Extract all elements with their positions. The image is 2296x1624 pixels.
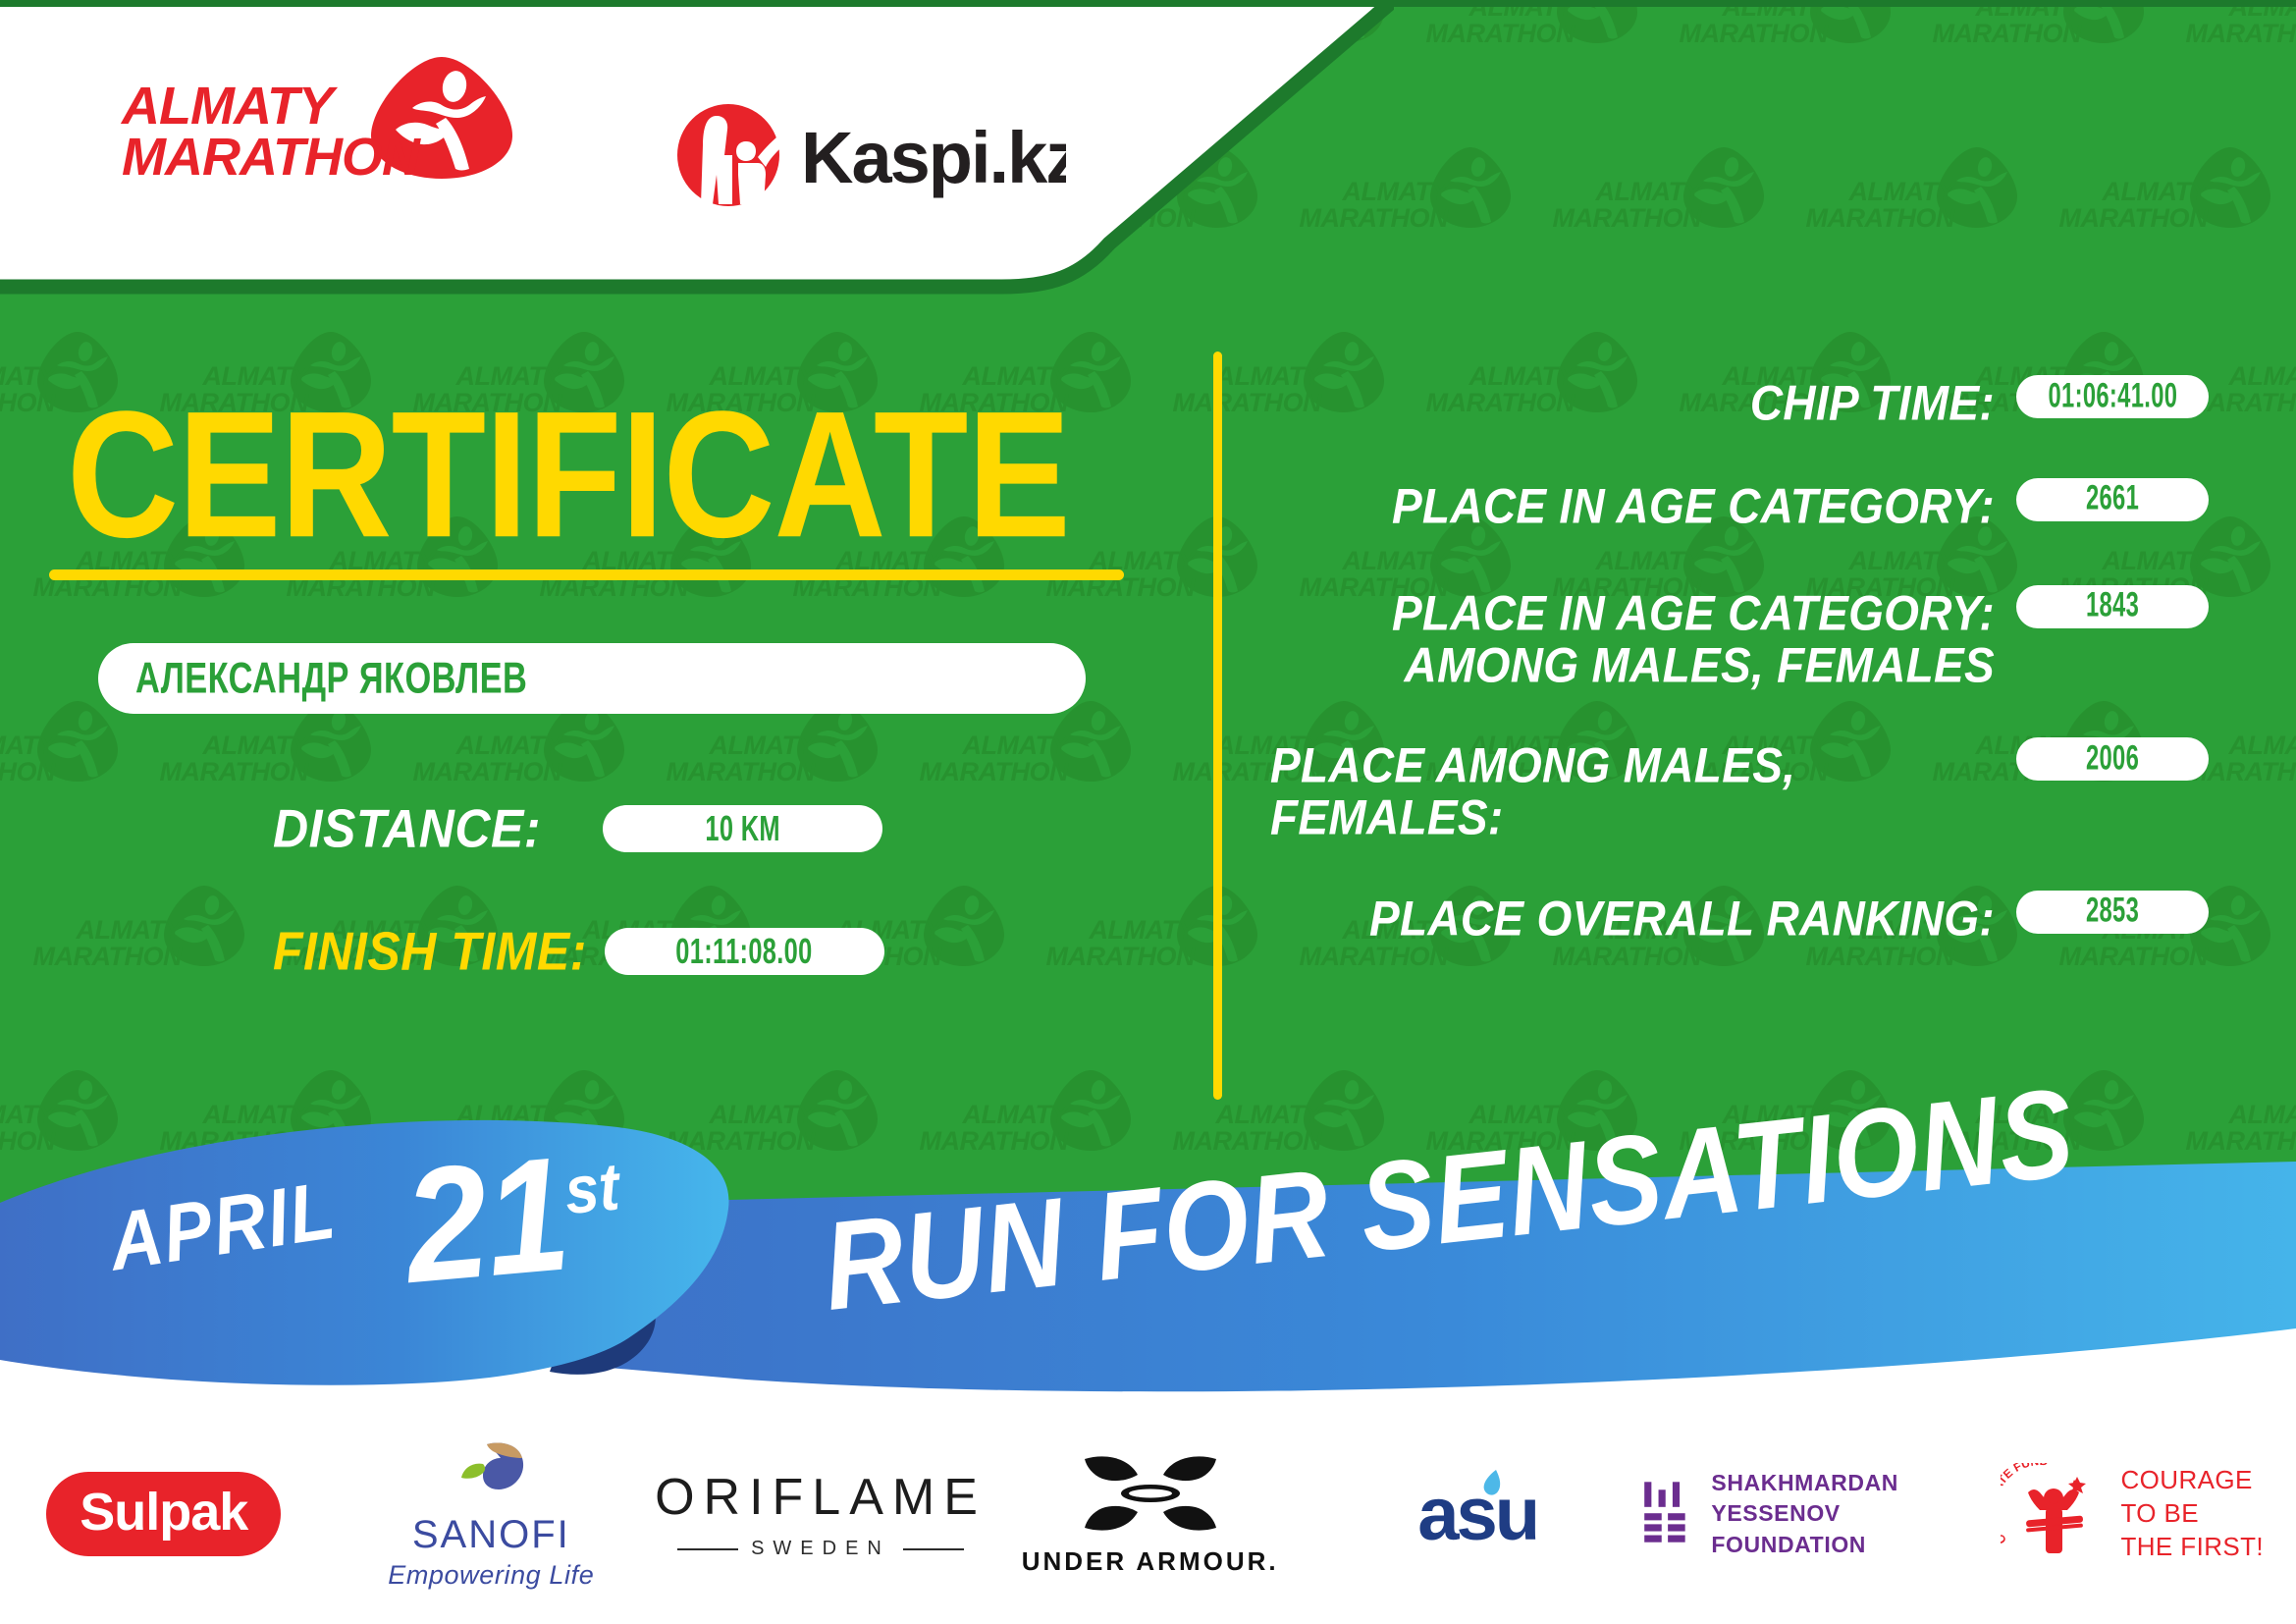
oriflame-sub-text: SWEDEN xyxy=(751,1538,890,1560)
watermark-line1: ALMATY xyxy=(135,732,308,759)
kaspi-logo-text: Kaspi.kz xyxy=(801,117,1066,198)
sponsor-bar: Sulpak SANOFI Empowering Life ORIFLAME S… xyxy=(0,1404,2296,1624)
sponsor-sanofi: SANOFI Empowering Life xyxy=(328,1426,656,1602)
under-armour-logo-text: UNDER ARMOUR. xyxy=(1022,1546,1279,1577)
finish-time-label: FINISH TIME: xyxy=(273,920,587,983)
watermark-line2: MARATHON xyxy=(135,759,308,785)
watermark-runner-icon xyxy=(922,884,1006,982)
title-underline xyxy=(49,569,1124,580)
sponsor-sulpak: Sulpak xyxy=(0,1426,328,1602)
sponsor-oriflame: ORIFLAME SWEDEN xyxy=(655,1426,987,1602)
sponsor-courage: CORPORATE FUND COURAGE TO BE THE FIRST! xyxy=(1968,1426,2296,1602)
watermark-text: ALMATY MARATHON xyxy=(895,732,1068,785)
watermark-tile: ALMATY MARATHON xyxy=(2035,145,2280,293)
watermark-tile: ALMATY MARATHON xyxy=(1402,0,1647,108)
watermark-text: ALMATY MARATHON xyxy=(2162,0,2296,47)
watermark-line2: MARATHON xyxy=(2288,944,2296,970)
watermark-tile: ALMATY MARATHON xyxy=(2288,884,2296,1031)
chip-time-value-pill: 01:06:41.00 xyxy=(2016,375,2209,418)
watermark-line1: ALMATY xyxy=(1022,917,1195,944)
watermark-line1: ALMATY xyxy=(9,917,182,944)
watermark-text: ALMATY MARATHON xyxy=(2288,917,2296,970)
place-age-category-value-pill: 2661 xyxy=(2016,478,2209,521)
watermark-tile: ALMATY MARATHON xyxy=(2288,145,2296,293)
watermark-tile: ALMATY MARATHON xyxy=(0,699,128,846)
sulpak-logo-text: Sulpak xyxy=(80,1483,247,1542)
oriflame-logo: ORIFLAME SWEDEN xyxy=(655,1468,987,1560)
place-among-mf-label: PLACE AMONG MALES, FEMALES: xyxy=(1266,735,2016,843)
sanofi-logo-text: SANOFI xyxy=(412,1513,570,1557)
sulpak-logo: Sulpak xyxy=(46,1472,281,1556)
place-age-category-label: PLACE IN AGE CATEGORY: xyxy=(1266,476,2016,532)
almaty-logo-line2: MARATHON xyxy=(122,128,421,184)
watermark-runner-icon xyxy=(1808,0,1893,59)
under-armour-mark-icon xyxy=(1077,1451,1224,1538)
watermark-text: ALMATY MARATHON xyxy=(1402,0,1575,47)
watermark-runner-icon xyxy=(542,699,626,797)
watermark-line2: MARATHON xyxy=(389,759,561,785)
watermark-line1: ALMATY xyxy=(895,732,1068,759)
place-age-category-mf-label-line2: AMONG MALES, FEMALES xyxy=(1266,638,1995,690)
watermark-line1: ALMATY xyxy=(2288,548,2296,574)
yessenov-line1: SHAKHMARDAN YESSENOV xyxy=(1711,1468,1968,1529)
watermark-line2: MARATHON xyxy=(1528,205,1701,232)
sanofi-logo: SANOFI Empowering Life xyxy=(388,1438,594,1591)
courage-mark-icon: CORPORATE FUND xyxy=(2001,1463,2107,1565)
place-among-mf-value: 2006 xyxy=(2086,739,2139,779)
place-age-category-value: 2661 xyxy=(2086,480,2139,519)
sponsor-asu: asu xyxy=(1313,1426,1641,1602)
sponsor-under-armour: UNDER ARMOUR. xyxy=(987,1426,1314,1602)
ribbon-day-number: 21 xyxy=(398,1122,574,1317)
watermark-runner-icon xyxy=(2061,0,2146,59)
watermark-runner-icon xyxy=(289,699,373,797)
watermark-runner-icon xyxy=(1555,0,1639,59)
watermark-line1: ALMATY xyxy=(0,732,55,759)
distance-label: DISTANCE: xyxy=(273,797,541,860)
chip-time-value: 01:06:41.00 xyxy=(2048,377,2177,416)
watermark-line1: ALMATY xyxy=(0,363,55,390)
kaspi-people-icon xyxy=(677,104,784,206)
watermark-text: ALMATY MARATHON xyxy=(0,363,55,416)
almaty-logo-line1: ALMATY xyxy=(120,77,339,135)
watermark-runner-icon xyxy=(1428,145,1513,244)
watermark-text: ALMATY MARATHON xyxy=(389,732,561,785)
place-overall-value-pill: 2853 xyxy=(2016,891,2209,934)
place-overall-label: PLACE OVERALL RANKING: xyxy=(1266,889,2016,945)
watermark-text: ALMATY MARATHON xyxy=(0,732,55,785)
chip-time-label: CHIP TIME: xyxy=(1266,373,2016,429)
place-overall-value: 2853 xyxy=(2086,893,2139,932)
watermark-tile: ALMATY MARATHON xyxy=(1782,145,2027,293)
place-age-category-mf-value-pill: 1843 xyxy=(2016,585,2209,628)
watermark-tile: ALMATY MARATHON xyxy=(1022,884,1267,1031)
watermark-line2: MARATHON xyxy=(1782,205,1954,232)
watermark-text: ALMATY MARATHON xyxy=(1908,0,2081,47)
watermark-tile: ALMATY MARATHON xyxy=(1528,145,1774,293)
asu-logo-text: asu xyxy=(1417,1473,1537,1556)
watermark-tile: ALMATY MARATHON xyxy=(2162,0,2296,108)
watermark-line2: MARATHON xyxy=(2162,21,2296,47)
yessenov-line2: FOUNDATION xyxy=(1711,1530,1968,1560)
watermark-runner-icon xyxy=(1935,145,2019,244)
watermark-runner-icon xyxy=(795,699,880,797)
watermark-line1: ALMATY xyxy=(1782,179,1954,205)
watermark-tile: ALMATY MARATHON xyxy=(895,699,1141,846)
courage-line1: COURAGE xyxy=(2120,1464,2264,1497)
watermark-line1: ALMATY xyxy=(2035,179,2208,205)
watermark-line1: ALMATY xyxy=(2288,917,2296,944)
result-row-place-among-mf: PLACE AMONG MALES, FEMALES: 2006 xyxy=(1266,735,2209,836)
watermark-line2: MARATHON xyxy=(642,759,815,785)
distance-row: DISTANCE: 10 KM xyxy=(273,800,882,857)
courage-line3: THE FIRST! xyxy=(2120,1531,2264,1564)
result-row-place-age-category: PLACE IN AGE CATEGORY: 2661 xyxy=(1266,476,2209,528)
watermark-line2: MARATHON xyxy=(2288,205,2296,232)
oriflame-sub: SWEDEN xyxy=(677,1538,964,1560)
participant-name-value: АЛЕКСАНДР ЯКОВЛЕВ xyxy=(135,654,527,703)
kaspi-logo: Kaspi.kz xyxy=(673,98,1066,216)
watermark-text: ALMATY MARATHON xyxy=(2035,179,2208,232)
sponsor-yessenov: SHAKHMARDAN YESSENOV FOUNDATION xyxy=(1641,1426,1969,1602)
watermark-runner-icon xyxy=(162,884,246,982)
vertical-divider xyxy=(1213,352,1222,1100)
watermark-text: ALMATY MARATHON xyxy=(642,732,815,785)
participant-name-field: АЛЕКСАНДР ЯКОВЛЕВ xyxy=(98,643,1086,714)
watermark-line2: MARATHON xyxy=(9,944,182,970)
watermark-text: ALMATY MARATHON xyxy=(1528,179,1701,232)
asu-logo: asu xyxy=(1417,1472,1537,1557)
sanofi-tagline: Empowering Life xyxy=(388,1560,594,1591)
watermark-runner-icon xyxy=(35,699,120,797)
watermark-line2: MARATHON xyxy=(2035,205,2208,232)
ribbon-day: 21st xyxy=(398,1115,629,1321)
yessenov-logo-text: SHAKHMARDAN YESSENOV FOUNDATION xyxy=(1711,1468,1968,1559)
watermark-text: ALMATY MARATHON xyxy=(1782,179,1954,232)
watermark-text: ALMATY MARATHON xyxy=(9,917,182,970)
place-age-category-mf-label-line1: PLACE IN AGE CATEGORY: xyxy=(1266,587,1995,639)
distance-value-pill: 10 KM xyxy=(603,805,882,852)
watermark-tile: ALMATY MARATHON xyxy=(2288,514,2296,662)
results-list: CHIP TIME: 01:06:41.00 PLACE IN AGE CATE… xyxy=(1266,373,2209,973)
result-row-chip-time: CHIP TIME: 01:06:41.00 xyxy=(1266,373,2209,425)
yessenov-logo: SHAKHMARDAN YESSENOV FOUNDATION xyxy=(1641,1468,1969,1559)
yessenov-mark-icon xyxy=(1641,1472,1689,1556)
watermark-line2: MARATHON xyxy=(0,390,55,416)
watermark-runner-icon xyxy=(1682,145,1766,244)
asu-drop-icon xyxy=(1478,1468,1504,1499)
oriflame-logo-text: ORIFLAME xyxy=(655,1468,987,1527)
watermark-text: ALMATY MARATHON xyxy=(1655,0,1828,47)
watermark-tile: ALMATY MARATHON xyxy=(9,884,254,1031)
place-among-mf-value-pill: 2006 xyxy=(2016,737,2209,781)
sanofi-mark-icon xyxy=(444,1438,538,1509)
watermark-text: ALMATY MARATHON xyxy=(1022,917,1195,970)
courage-logo-text: COURAGE TO BE THE FIRST! xyxy=(2120,1464,2264,1563)
result-row-place-overall: PLACE OVERALL RANKING: 2853 xyxy=(1266,889,2209,941)
finish-time-row: FINISH TIME: 01:11:08.00 xyxy=(273,923,884,980)
top-rule xyxy=(0,0,2296,7)
watermark-text: ALMATY MARATHON xyxy=(2288,179,2296,232)
oriflame-line-right xyxy=(903,1548,964,1550)
watermark-line2: MARATHON xyxy=(1402,21,1575,47)
watermark-tile: ALMATY MARATHON xyxy=(1908,0,2154,108)
place-age-category-mf-value: 1843 xyxy=(2086,587,2139,626)
watermark-text: ALMATY MARATHON xyxy=(2288,548,2296,601)
distance-value: 10 KM xyxy=(705,808,780,849)
watermark-line2: MARATHON xyxy=(1655,21,1828,47)
finish-time-value-pill: 01:11:08.00 xyxy=(605,928,884,975)
place-among-mf-label-line2: FEMALES: xyxy=(1270,791,1995,843)
place-among-mf-label-line1: PLACE AMONG MALES, xyxy=(1270,739,1995,791)
watermark-line1: ALMATY xyxy=(389,732,561,759)
place-age-category-mf-label: PLACE IN AGE CATEGORY: AMONG MALES, FEMA… xyxy=(1266,583,2016,691)
watermark-line2: MARATHON xyxy=(2288,574,2296,601)
ribbon-day-suffix: st xyxy=(561,1150,622,1228)
courage-logo: CORPORATE FUND COURAGE TO BE THE FIRST! xyxy=(2001,1463,2264,1565)
watermark-runner-icon xyxy=(2188,145,2272,244)
watermark-line2: MARATHON xyxy=(1908,21,2081,47)
result-row-place-age-category-mf: PLACE IN AGE CATEGORY: AMONG MALES, FEMA… xyxy=(1266,583,2209,683)
watermark-line1: ALMATY xyxy=(2288,179,2296,205)
watermark-tile: ALMATY MARATHON xyxy=(1655,0,1900,108)
almaty-marathon-logo: ALMATY MARATHON xyxy=(118,51,540,184)
watermark-line2: MARATHON xyxy=(1022,944,1195,970)
finish-time-value: 01:11:08.00 xyxy=(676,931,813,972)
watermark-line2: MARATHON xyxy=(0,759,55,785)
watermark-line1: ALMATY xyxy=(642,732,815,759)
under-armour-logo: UNDER ARMOUR. xyxy=(1022,1451,1279,1577)
watermark-line2: MARATHON xyxy=(895,759,1068,785)
watermark-runner-icon xyxy=(1048,699,1133,797)
watermark-line1: ALMATY xyxy=(1528,179,1701,205)
oriflame-line-left xyxy=(677,1548,738,1550)
page-title: CERTIFICATE xyxy=(67,385,1070,565)
watermark-text: ALMATY MARATHON xyxy=(135,732,308,785)
courage-line2: TO BE xyxy=(2120,1497,2264,1531)
certificate-page: ALMATY MARATHON ALMATY MARATHON xyxy=(0,0,2296,1624)
